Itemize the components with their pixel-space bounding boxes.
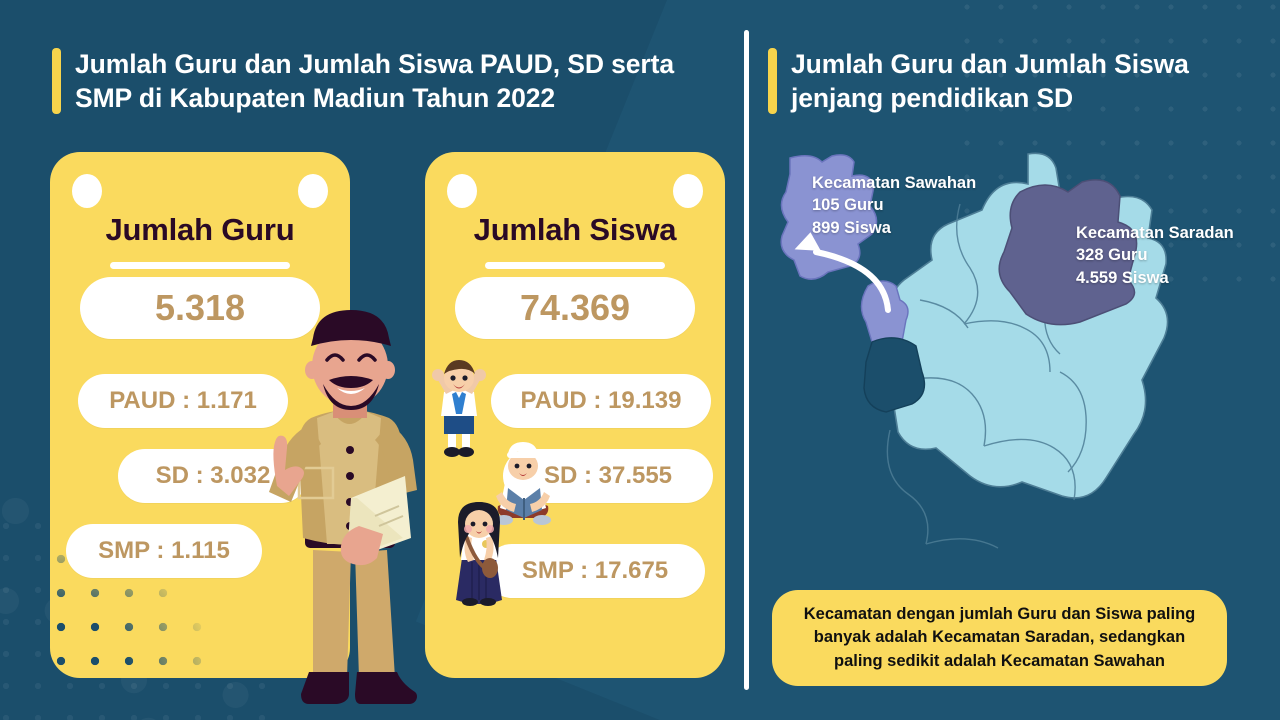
left-panel-title: Jumlah Guru dan Jumlah Siswa PAUD, SD se… <box>52 48 712 116</box>
student-cheering-illustration <box>428 358 490 458</box>
siswa-smp-value: SMP : 17.675 <box>485 544 705 598</box>
card-punch-hole-left <box>447 174 477 208</box>
map-caption-box: Kecamatan dengan jumlah Guru dan Siswa p… <box>772 590 1227 686</box>
infographic-canvas: Jumlah Guru dan Jumlah Siswa PAUD, SD se… <box>0 0 1280 720</box>
left-title-text: Jumlah Guru dan Jumlah Siswa PAUD, SD se… <box>75 48 712 116</box>
card-punch-hole-left <box>72 174 102 208</box>
guru-smp-value: SMP : 1.115 <box>66 524 262 578</box>
map-label-sawahan-name: Kecamatan Sawahan <box>812 172 976 194</box>
map-region-dark-inset[interactable] <box>864 338 924 412</box>
right-panel-title: Jumlah Guru dan Jumlah Siswa jenjang pen… <box>768 48 1238 116</box>
map-label-sawahan-students: 899 Siswa <box>812 217 976 239</box>
map-label-sawahan: Kecamatan Sawahan 105 Guru 899 Siswa <box>812 172 976 239</box>
card-punch-hole-right <box>673 174 703 208</box>
card-heading-rule <box>485 262 665 269</box>
panel-divider <box>744 30 749 690</box>
siswa-paud-value: PAUD : 19.139 <box>491 374 711 428</box>
siswa-total-value: 74.369 <box>455 277 695 339</box>
map-label-saradan-students: 4.559 Siswa <box>1076 267 1234 289</box>
title-accent-bar <box>52 48 61 114</box>
title-accent-bar <box>768 48 777 114</box>
card-heading-siswa: Jumlah Siswa <box>425 212 725 248</box>
student-girl-illustration <box>448 500 510 610</box>
map-label-saradan-name: Kecamatan Saradan <box>1076 222 1234 244</box>
map-label-sawahan-teachers: 105 Guru <box>812 194 976 216</box>
card-punch-hole-right <box>298 174 328 208</box>
card-heading-rule <box>110 262 290 269</box>
card-heading-guru: Jumlah Guru <box>50 212 350 248</box>
map-label-saradan: Kecamatan Saradan 328 Guru 4.559 Siswa <box>1076 222 1234 289</box>
teacher-illustration <box>255 300 445 720</box>
right-title-text: Jumlah Guru dan Jumlah Siswa jenjang pen… <box>791 48 1238 116</box>
map-label-saradan-teachers: 328 Guru <box>1076 244 1234 266</box>
